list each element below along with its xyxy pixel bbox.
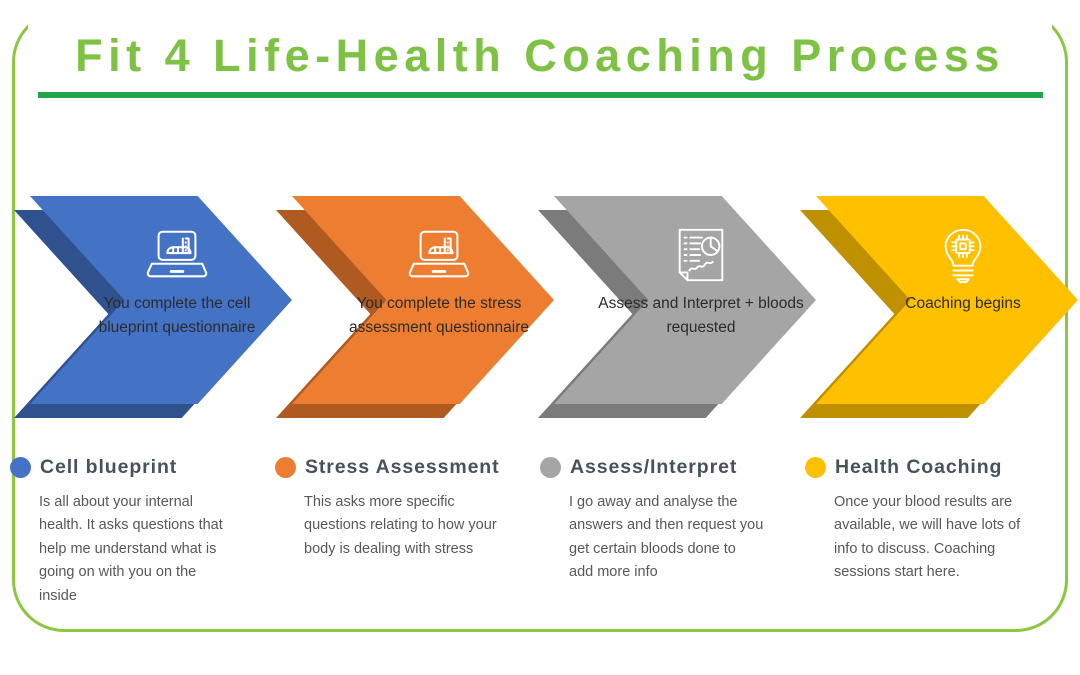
legend-title: Health Coaching [835,456,1002,479]
chevron-caption: Coaching begins [860,292,1066,316]
legend-header: Stress Assessment [275,452,540,482]
chevron-caption: Assess and Interpret + bloods requested [598,292,804,341]
legend-body: This asks more specific questions relati… [304,491,499,561]
legend-body: I go away and analyse the answers and th… [569,491,764,585]
chevron-caption: You complete the cell blueprint question… [74,292,280,341]
legend-header: Health Coaching [805,452,1070,482]
legend-item-cell-blueprint: Cell blueprint Is all about your interna… [10,452,275,608]
legend-row: Cell blueprint Is all about your interna… [0,452,1080,622]
chevron-content: You complete the cell blueprint question… [30,196,292,404]
legend-dot-icon [805,457,826,478]
legend-body: Once your blood results are available, w… [834,491,1029,585]
legend-header: Cell blueprint [10,452,275,482]
process-chevron-row: You complete the cell blueprint question… [0,196,1080,424]
legend-title: Cell blueprint [40,456,177,479]
legend-item-assess-interpret: Assess/Interpret I go away and analyse t… [540,452,805,585]
chevron-content: You complete the stress assessment quest… [292,196,554,404]
legend-body: Is all about your internal health. It as… [39,491,234,608]
page-title: Fit 4 Life-Health Coaching Process [75,30,1005,82]
chevron-content: Coaching begins [816,196,1078,404]
legend-dot-icon [540,457,561,478]
report-pie-chart-icon [670,226,732,284]
legend-item-health-coaching: Health Coaching Once your blood results … [805,452,1070,585]
process-step-stress-assessment[interactable]: You complete the stress assessment quest… [276,196,554,418]
chevron-caption: You complete the stress assessment quest… [336,292,542,341]
legend-dot-icon [10,457,31,478]
laptop-bar-chart-icon [146,226,208,284]
title-underline-rule [38,92,1043,98]
legend-title: Assess/Interpret [570,456,737,479]
laptop-bar-chart-icon [408,226,470,284]
chevron-content: Assess and Interpret + bloods requested [554,196,816,404]
slide-canvas: Fit 4 Life-Health Coaching Process [0,0,1080,675]
legend-item-stress-assessment: Stress Assessment This asks more specifi… [275,452,540,561]
page-title-container: Fit 4 Life-Health Coaching Process [0,30,1080,82]
lightbulb-chip-icon [932,226,994,284]
process-step-health-coaching[interactable]: Coaching begins [800,196,1078,418]
process-step-cell-blueprint[interactable]: You complete the cell blueprint question… [14,196,292,418]
legend-header: Assess/Interpret [540,452,805,482]
legend-title: Stress Assessment [305,456,500,479]
legend-dot-icon [275,457,296,478]
process-step-assess-interpret[interactable]: Assess and Interpret + bloods requested [538,196,816,418]
